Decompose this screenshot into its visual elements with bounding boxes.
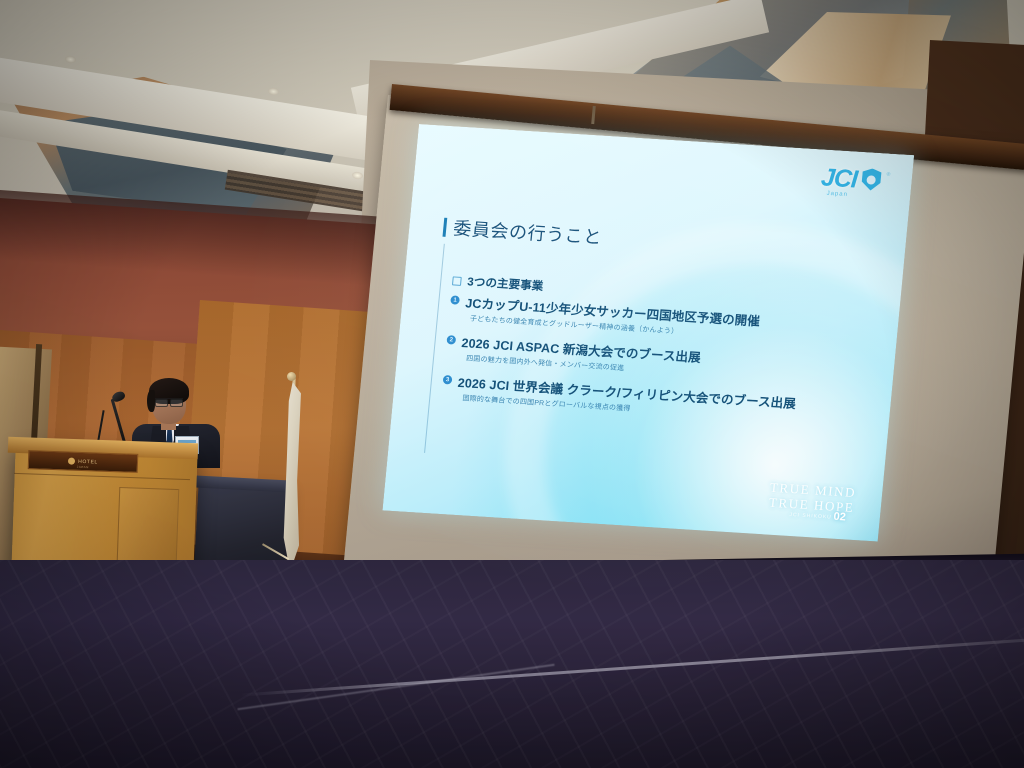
speaker-hair-side [147, 390, 155, 412]
projected-slide: JCI Japan ® 委員会の行うこと [382, 124, 914, 542]
numbered-bullet-icon: 2 [446, 335, 456, 345]
jci-trademark: ® [886, 171, 890, 177]
square-bullet-icon [452, 276, 462, 286]
flag-finial [287, 372, 296, 381]
numbered-bullet-icon: 1 [450, 295, 460, 305]
slide-page-number: 02 [833, 511, 846, 524]
slide-vertical-rule [424, 244, 445, 453]
jci-logo: JCI Japan ® [820, 165, 891, 194]
slide-title-text: 委員会の行うこと [452, 214, 603, 249]
hotel-emblem-icon [68, 457, 75, 464]
jci-wordmark: JCI [820, 165, 858, 192]
downlight-icon [65, 55, 77, 64]
podium-nameplate-sub: JAPAN [77, 465, 89, 469]
slide-bullet-list: 3つの主要事業 1 JCカップU-11少年少女サッカー四国地区予選の開催 子ども… [440, 272, 870, 437]
numbered-bullet-icon: 3 [443, 375, 453, 385]
slide-title: 委員会の行うこと [442, 214, 603, 250]
slide-background: JCI Japan ® 委員会の行うこと [382, 124, 914, 542]
conference-room: JCI Japan ® 委員会の行うこと [0, 0, 1024, 768]
glasses-icon [155, 398, 183, 406]
jci-shield-icon [861, 168, 882, 191]
slide-footer: TRUE MIND TRUE HOPE JCI SHIKOKU 02 [767, 480, 857, 522]
screenshot-root: JCI Japan ® 委員会の行うこと [0, 0, 1024, 768]
podium-side-panel [117, 487, 180, 563]
jci-logo-sub: Japan [826, 191, 848, 198]
podium-nameplate: HOTEL JAPAN [28, 450, 139, 473]
downlight-icon [268, 87, 280, 96]
lead-heading: 3つの主要事業 [467, 273, 544, 294]
carpet-floor [0, 560, 1024, 768]
title-accent-bar [443, 217, 448, 236]
